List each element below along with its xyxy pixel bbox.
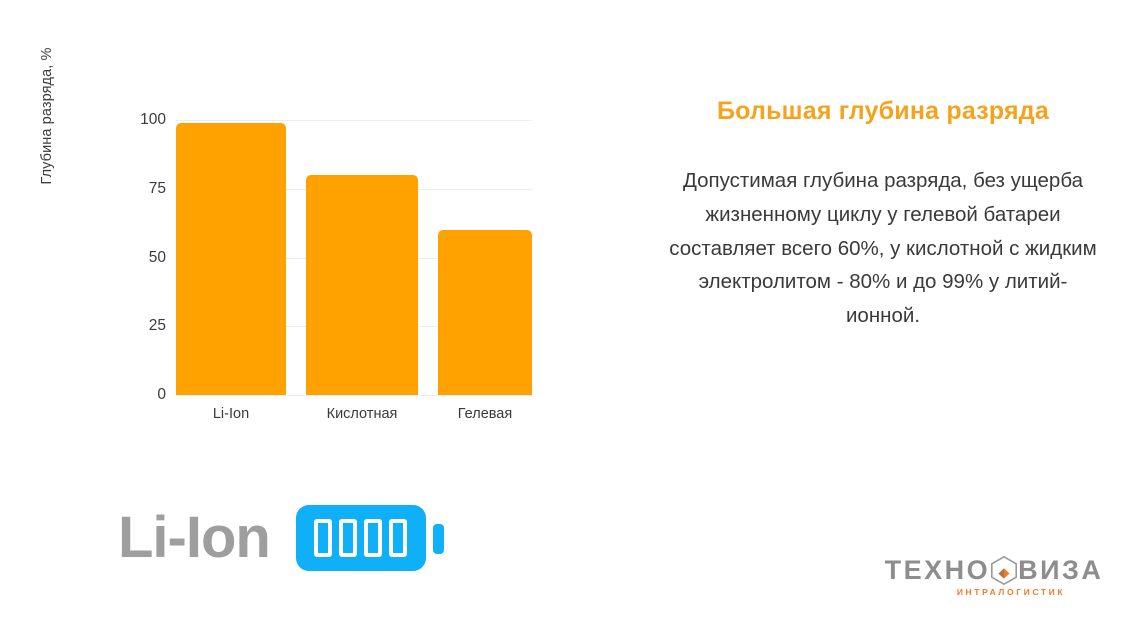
- axis-baseline: [176, 395, 532, 396]
- brand-logo: ТЕХНО ВИЗА ИНТРАЛОГИСТИК: [889, 556, 1099, 604]
- brand-word-left: ТЕХНО: [885, 557, 991, 584]
- brand-wordmark: ТЕХНО ВИЗА: [889, 556, 1099, 585]
- plot-area: 100 75 50 25 0 Li-Ion Кислотная: [176, 120, 532, 395]
- y-tick-75: 75: [149, 180, 166, 198]
- brand-tagline: ИНТРАЛОГИСТИК: [889, 587, 1099, 597]
- y-axis-title: Глубина разряда, %: [39, 1, 55, 231]
- x-tick-label-gelevaya: Гелевая: [458, 406, 512, 422]
- y-tick-50: 50: [149, 249, 166, 267]
- bar-series: Li-Ion Кислотная Гелевая: [176, 120, 532, 395]
- bar-gelevaya[interactable]: [438, 230, 532, 395]
- battery-cell-2: [339, 519, 357, 557]
- battery-cell-4: [389, 519, 407, 557]
- description-panel: Большая глубина разряда Допустимая глуби…: [648, 96, 1118, 333]
- y-tick-25: 25: [149, 317, 166, 335]
- bar-chart: Глубина разряда, % 100 75 50 25 0: [0, 0, 600, 470]
- li-ion-label: Li-Ion: [118, 509, 270, 567]
- y-tick-100: 100: [140, 111, 166, 129]
- bar-slot-gelevaya: Гелевая: [438, 120, 532, 395]
- section-headline: Большая глубина разряда: [648, 96, 1118, 126]
- y-tick-0: 0: [157, 386, 166, 404]
- li-ion-lockup: Li-Ion: [118, 505, 444, 571]
- section-body-text: Допустимая глубина разряда, без ущерба ж…: [648, 164, 1118, 333]
- bar-li-ion[interactable]: [176, 123, 286, 395]
- battery-terminal-cap: [433, 524, 444, 554]
- hexagon-icon: [991, 556, 1017, 585]
- battery-cell-1: [314, 519, 332, 557]
- battery-cell-3: [364, 519, 382, 557]
- brand-word-right: ВИЗА: [1018, 557, 1103, 584]
- battery-body: [296, 505, 426, 571]
- bar-slot-kislotnaya: Кислотная: [306, 120, 418, 395]
- bar-slot-li-ion: Li-Ion: [176, 120, 286, 395]
- chart-plot-wrapper: 100 75 50 25 0 Li-Ion Кислотная: [88, 108, 538, 418]
- slide-canvas: Глубина разряда, % 100 75 50 25 0: [0, 0, 1135, 644]
- x-tick-label-li-ion: Li-Ion: [213, 406, 249, 422]
- bar-kislotnaya[interactable]: [306, 175, 418, 395]
- battery-icon: [296, 505, 444, 571]
- x-tick-label-kislotnaya: Кислотная: [327, 406, 398, 422]
